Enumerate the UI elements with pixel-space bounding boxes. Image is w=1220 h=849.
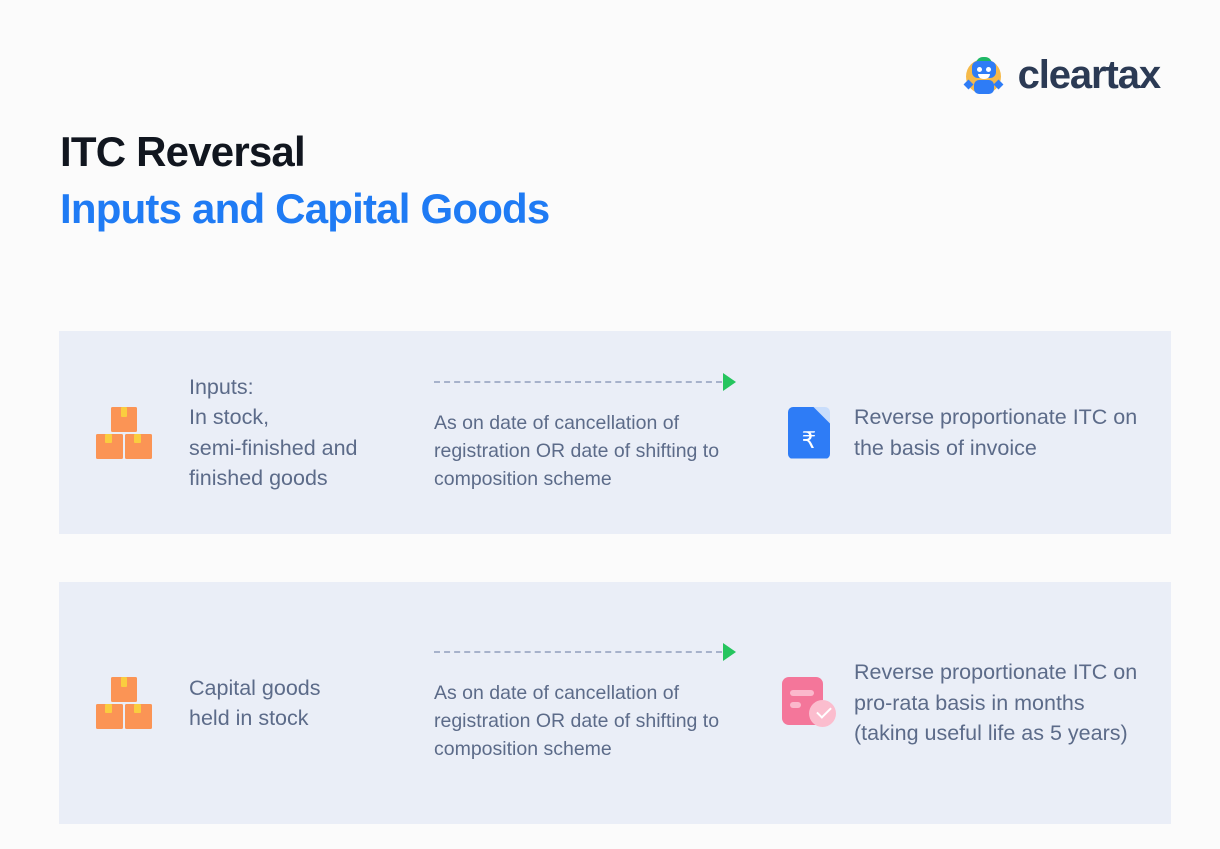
inputs-arrow-cell: As on date of cancellation of registrati…	[434, 373, 764, 493]
capital-goods-result-icon-cell	[764, 677, 854, 729]
capital-goods-condition-text: As on date of cancellation of registrati…	[434, 679, 736, 763]
inputs-label-cell: Inputs: In stock, semi-finished and fini…	[189, 372, 434, 494]
checkmark-icon	[816, 703, 832, 719]
brand-name: cleartax	[1018, 55, 1160, 95]
box-tape-bottom-right	[134, 434, 141, 443]
capital-goods-label-cell: Capital goods held in stock	[189, 673, 434, 734]
mascot-eye-left	[977, 67, 982, 72]
row-card-inputs: Inputs: In stock, semi-finished and fini…	[59, 331, 1171, 534]
box-tape-top	[121, 677, 127, 687]
document-check-icon	[782, 677, 836, 729]
cleartax-robot-mascot-icon	[964, 54, 1006, 96]
mascot-eye-right	[986, 67, 991, 72]
brand-logo: cleartax	[964, 54, 1160, 96]
inputs-condition-text: As on date of cancellation of registrati…	[434, 409, 736, 493]
arrow-head-icon	[723, 373, 736, 391]
check-document-line-1	[790, 690, 814, 696]
box-tape-bottom-left	[105, 434, 112, 443]
capital-goods-result-cell: Reverse proportionate ITC on pro-rata ba…	[854, 657, 1171, 749]
arrow-dashes	[434, 381, 722, 383]
page-title: ITC Reversal Inputs and Capital Goods	[60, 124, 549, 237]
check-document-line-2	[790, 702, 801, 708]
capital-goods-result-text: Reverse proportionate ITC on pro-rata ba…	[854, 657, 1141, 749]
title-line-primary: ITC Reversal	[60, 124, 549, 181]
box-tape-bottom-right	[134, 704, 141, 713]
box-tape-bottom-left	[105, 704, 112, 713]
inputs-icon-cell	[59, 407, 189, 459]
dashed-arrow-right-icon	[434, 373, 736, 391]
row-card-capital-goods: Capital goods held in stock As on date o…	[59, 582, 1171, 824]
inputs-result-cell: Reverse proportionate ITC on the basis o…	[854, 402, 1171, 463]
inputs-result-text: Reverse proportionate ITC on the basis o…	[854, 402, 1141, 463]
inputs-label: Inputs: In stock, semi-finished and fini…	[189, 372, 434, 494]
dashed-arrow-right-icon	[434, 643, 736, 661]
arrow-head-icon	[723, 643, 736, 661]
box-tape-top	[121, 407, 127, 417]
mascot-body	[974, 80, 994, 94]
invoice-rupee-document-icon: ₹	[788, 407, 830, 459]
inputs-result-icon-cell: ₹	[764, 407, 854, 459]
title-line-accent: Inputs and Capital Goods	[60, 181, 549, 238]
stacked-boxes-icon	[96, 677, 152, 729]
capital-goods-label: Capital goods held in stock	[189, 673, 434, 734]
check-badge-circle	[809, 700, 836, 727]
capital-goods-arrow-cell: As on date of cancellation of registrati…	[434, 643, 764, 763]
stacked-boxes-icon	[96, 407, 152, 459]
arrow-dashes	[434, 651, 722, 653]
rupee-symbol: ₹	[788, 429, 830, 452]
capital-goods-icon-cell	[59, 677, 189, 729]
